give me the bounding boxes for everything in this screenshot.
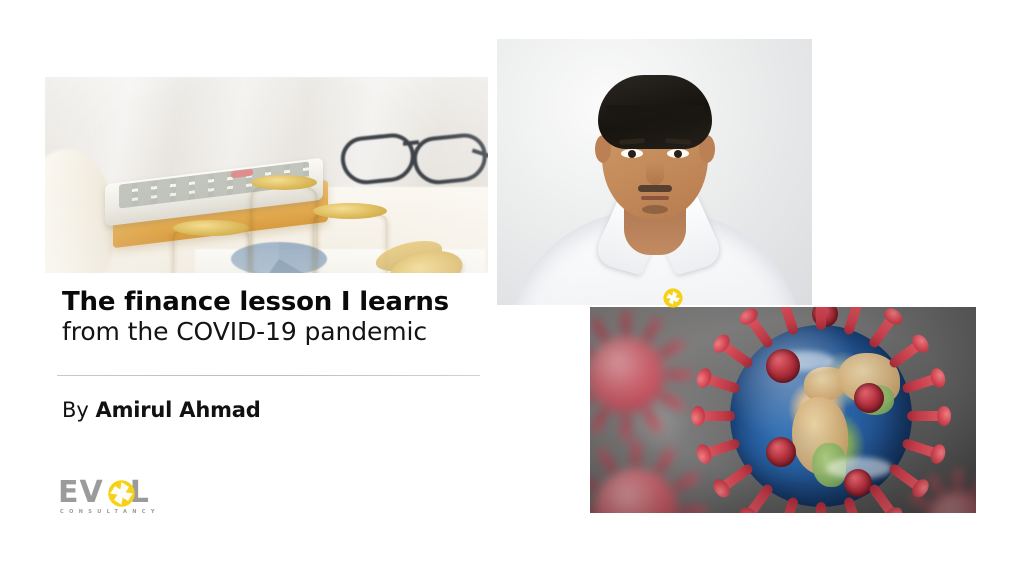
title-divider — [57, 375, 480, 376]
logo-tagline: CONSULTANCY — [60, 509, 160, 516]
nose — [646, 161, 664, 185]
portrait-photo — [497, 39, 812, 305]
logo-wordmark-left: EV — [58, 475, 103, 510]
covid-photo-vignette — [590, 307, 976, 513]
chin-shadow — [642, 205, 668, 214]
presentation-slide: The finance lesson I learns from the COV… — [0, 0, 1024, 576]
page-title-line-2: from the COVID-19 pandemic — [62, 317, 492, 347]
logo-wordmark: EVOL — [58, 478, 150, 508]
finance-photo-vignette — [45, 77, 488, 273]
eye-right — [667, 149, 689, 158]
byline: By Amirul Ahmad — [62, 398, 261, 422]
hair — [598, 75, 712, 149]
moustache — [638, 185, 672, 192]
evol-consultancy-logo: EVOL CONSULTANCY — [58, 478, 178, 522]
page-title-line-1: The finance lesson I learns — [62, 288, 492, 317]
finance-photo — [45, 77, 488, 273]
mouth — [641, 196, 669, 200]
aperture-icon — [108, 480, 135, 507]
title-block: The finance lesson I learns from the COV… — [62, 288, 492, 347]
covid-virus-photo — [590, 307, 976, 513]
aperture-badge-icon — [663, 288, 683, 308]
byline-prefix: By — [62, 398, 96, 422]
byline-author: Amirul Ahmad — [96, 398, 261, 422]
eye-left — [621, 149, 643, 158]
